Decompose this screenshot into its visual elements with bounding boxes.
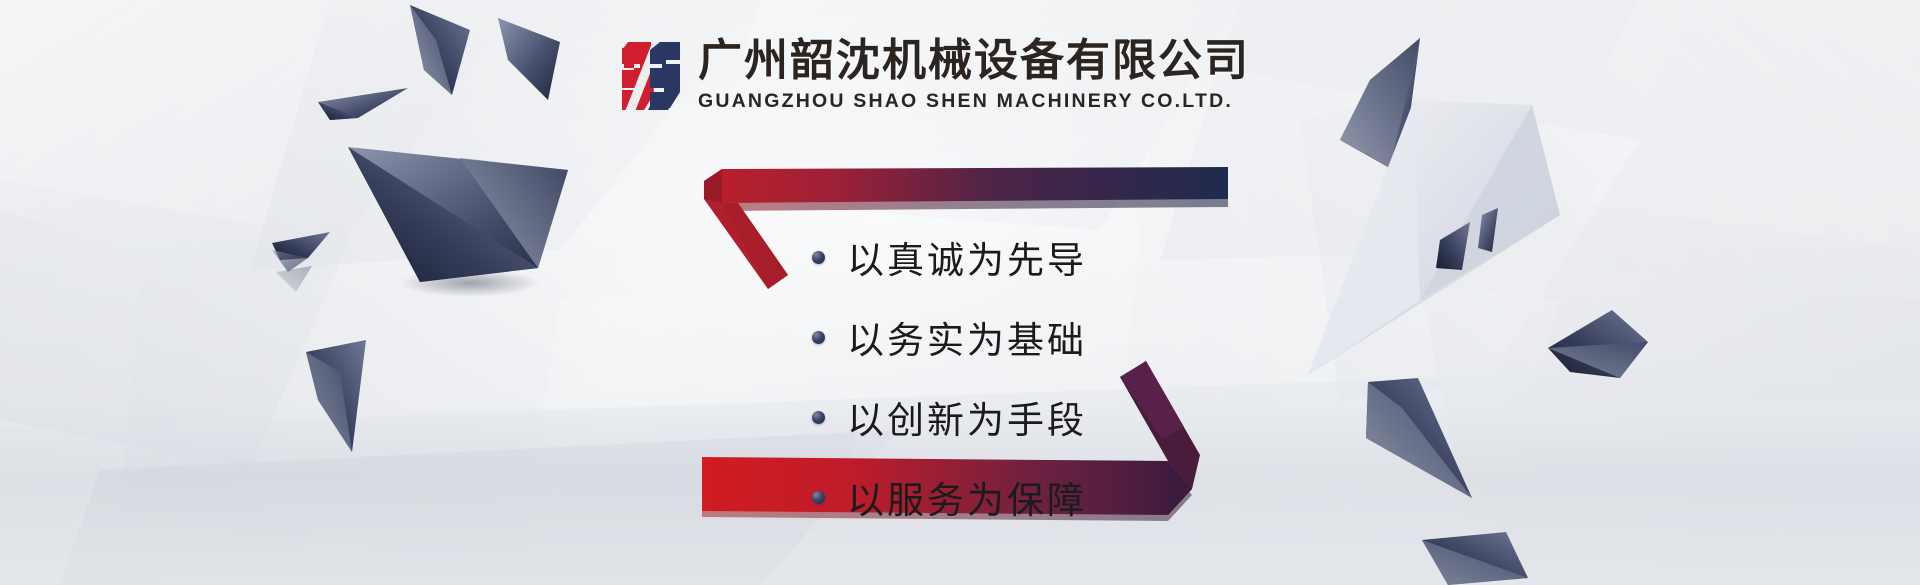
slogan-list: 以真诚为先导 以务实为基础 以创新为手段 以服务为保障	[812, 230, 1087, 524]
slogan-text: 以创新为手段	[847, 390, 1087, 444]
list-item: 以真诚为先导	[812, 230, 1087, 284]
list-item: 以务实为基础	[812, 310, 1087, 364]
slogan-text: 以务实为基础	[847, 310, 1087, 364]
shaoshen-ss-monogram-logo	[620, 42, 682, 110]
round-bullet-icon	[812, 251, 825, 264]
slogan-text: 以真诚为先导	[847, 230, 1087, 284]
slogan-text: 以服务为保障	[847, 470, 1087, 524]
list-item: 以创新为手段	[812, 390, 1087, 444]
company-culture-banner: 广州韶沈机械设备有限公司 GUANGZHOU SHAO SHEN MACHINE…	[0, 0, 1920, 585]
round-bullet-icon	[812, 331, 825, 344]
company-name-cn: 广州韶沈机械设备有限公司	[698, 38, 1250, 84]
brand-lockup: 广州韶沈机械设备有限公司 GUANGZHOU SHAO SHEN MACHINE…	[620, 38, 1250, 113]
company-name-en: GUANGZHOU SHAO SHEN MACHINERY CO.LTD.	[698, 90, 1250, 113]
list-item: 以服务为保障	[812, 470, 1087, 524]
round-bullet-icon	[812, 411, 825, 424]
round-bullet-icon	[812, 491, 825, 504]
